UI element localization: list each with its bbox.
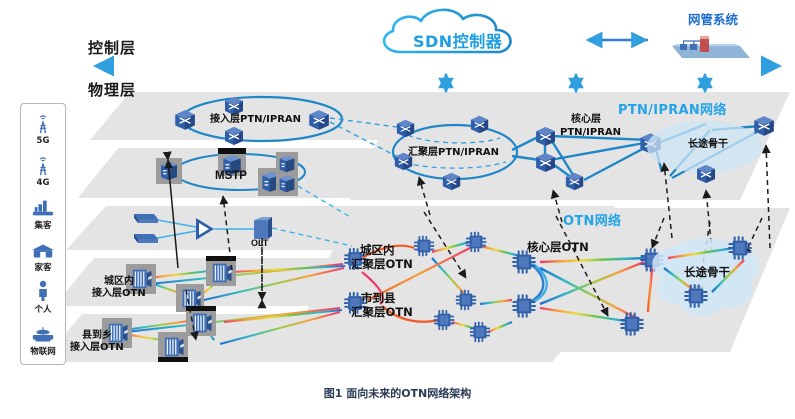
physical-layer-title: 物理层 bbox=[88, 82, 136, 99]
ptn-agg-ring-label: 汇聚层PTN/IPRAN bbox=[408, 147, 499, 159]
olt-label: OLT bbox=[251, 238, 268, 248]
mstp-label: MSTP bbox=[215, 170, 247, 183]
otn-agg-urban-label-line2: 汇聚层OTN bbox=[351, 258, 413, 271]
access-type-legend: 5G 4G bbox=[20, 103, 66, 365]
legend-item-5g[interactable]: 5G bbox=[21, 109, 65, 149]
legend-label: 5G bbox=[37, 136, 50, 146]
otn-agg-city-label-line2: 汇聚层OTN bbox=[351, 306, 413, 319]
ptn-access-ring-label: 接入层PTN/IPRAN bbox=[210, 114, 301, 126]
sdn-controller-label: SDN控制器 bbox=[413, 33, 502, 51]
legend-label: 物联网 bbox=[30, 345, 56, 357]
ptn-backbone-label: 长途骨干 bbox=[688, 139, 728, 151]
otn-access-urban-label-line2: 接入层OTN bbox=[92, 288, 146, 300]
otn-access-county-label-line2: 接入层OTN bbox=[70, 342, 124, 354]
legend-label: 集客 bbox=[34, 219, 51, 231]
otn-access-county-label-line1: 县到乡 bbox=[82, 330, 112, 342]
legend-item-person[interactable]: 个人 bbox=[21, 277, 65, 317]
4g-tower-icon bbox=[32, 155, 54, 177]
diagram-canvas bbox=[0, 0, 795, 419]
legend-item-4g[interactable]: 4G bbox=[21, 151, 65, 191]
otn-network-title: OTN网络 bbox=[563, 215, 621, 230]
control-layer-title: 控制层 bbox=[88, 40, 136, 57]
otn-agg-urban-label-line1: 城区内 bbox=[360, 244, 395, 257]
nms-label: 网管系统 bbox=[688, 13, 738, 27]
legend-item-iot[interactable]: 物联网 bbox=[21, 319, 65, 359]
legend-item-home[interactable]: 家客 bbox=[21, 235, 65, 275]
otn-access-urban-label-line1: 城区内 bbox=[104, 276, 134, 288]
otn-backbone-label: 长途骨干 bbox=[684, 266, 730, 279]
enterprise-icon bbox=[31, 196, 55, 218]
ptn-core-label-line1: 核心层 bbox=[571, 114, 601, 126]
legend-label: 4G bbox=[37, 178, 50, 188]
legend-item-enterprise[interactable]: 集客 bbox=[21, 193, 65, 233]
otn-agg-city-label-line1: 市到县 bbox=[361, 292, 396, 305]
home-icon bbox=[31, 238, 55, 260]
legend-label: 家客 bbox=[34, 261, 51, 273]
control-to-physical-arrows bbox=[446, 74, 705, 92]
nms-icon bbox=[672, 36, 750, 58]
iot-icon bbox=[30, 322, 56, 344]
ptn-core-label-line2: PTN/IPRAN bbox=[560, 127, 621, 139]
5g-tower-icon bbox=[32, 113, 54, 135]
figure-caption: 图1 面向未来的OTN网络架构 bbox=[0, 385, 795, 401]
ptn-network-title: PTN/IPRAN网络 bbox=[618, 104, 727, 119]
person-icon bbox=[35, 280, 51, 302]
legend-label: 个人 bbox=[34, 303, 51, 315]
olt-icon bbox=[254, 217, 272, 239]
figure-root: 控制层 物理层 SDN控制器 网管系统 PTN/IPRAN网络 接入层PTN/I… bbox=[0, 0, 795, 419]
otn-core-label: 核心层OTN bbox=[527, 241, 589, 254]
